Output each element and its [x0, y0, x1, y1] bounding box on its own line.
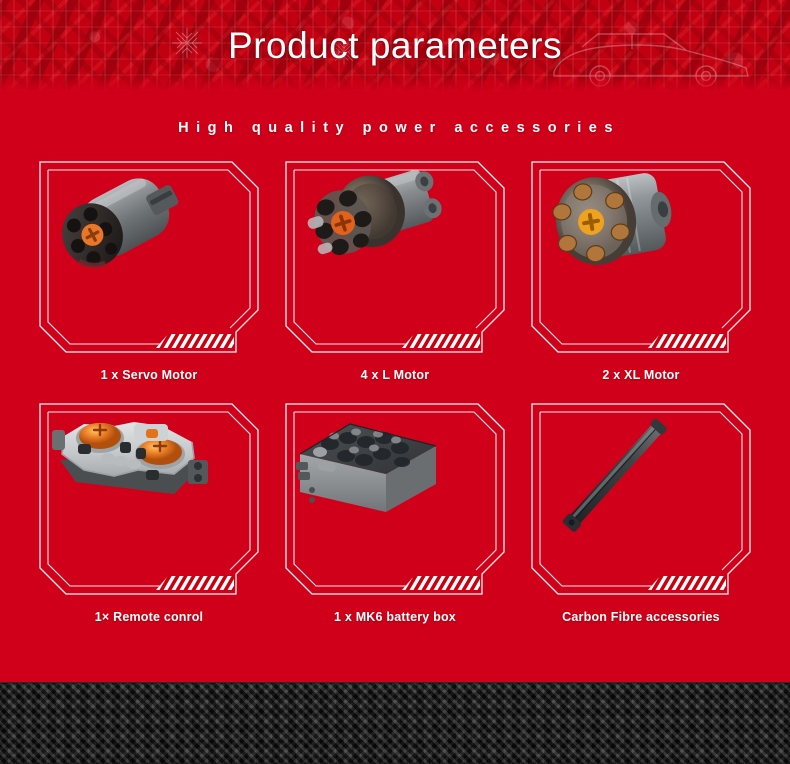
page-banner: Product parameters: [0, 0, 790, 92]
card-caption: 1× Remote conrol: [36, 610, 262, 624]
accessories-grid: 1 x Servo Motor: [0, 136, 790, 624]
tech-frame: [282, 400, 508, 598]
card-caption: 1 x Servo Motor: [36, 368, 262, 382]
tech-frame: [36, 158, 262, 356]
card-battery-box: 1 x MK6 battery box: [282, 400, 508, 624]
section-subtitle: High quality power accessories: [0, 92, 790, 136]
tech-frame: [36, 400, 262, 598]
xl-motor-photo: [528, 158, 754, 356]
card-caption: 2 x XL Motor: [528, 368, 754, 382]
accessories-row-2: 1× Remote conrol: [0, 400, 790, 624]
tech-frame: [528, 400, 754, 598]
l-motor-photo: [282, 158, 508, 356]
banner-bottom-fade: [0, 74, 790, 92]
card-remote-control: 1× Remote conrol: [36, 400, 262, 624]
card-l-motor: 4 x L Motor: [282, 158, 508, 382]
tech-frame: [282, 158, 508, 356]
page-title: Product parameters: [228, 25, 562, 67]
card-caption: Carbon Fibre accessories: [528, 610, 754, 624]
card-xl-motor: 2 x XL Motor: [528, 158, 754, 382]
snowflake-icon: [170, 26, 204, 60]
battery-box-photo: [282, 400, 508, 598]
servo-motor-photo: [36, 158, 262, 356]
card-carbon-fibre: Carbon Fibre accessories: [528, 400, 754, 624]
carbon-fibre-footer-texture: [0, 682, 790, 764]
card-servo-motor: 1 x Servo Motor: [36, 158, 262, 382]
carbon-fibre-rod-photo: [528, 400, 754, 598]
accessories-row-1: 1 x Servo Motor: [0, 158, 790, 382]
card-caption: 1 x MK6 battery box: [282, 610, 508, 624]
tech-frame: [528, 158, 754, 356]
remote-control-photo: [36, 400, 262, 598]
card-caption: 4 x L Motor: [282, 368, 508, 382]
